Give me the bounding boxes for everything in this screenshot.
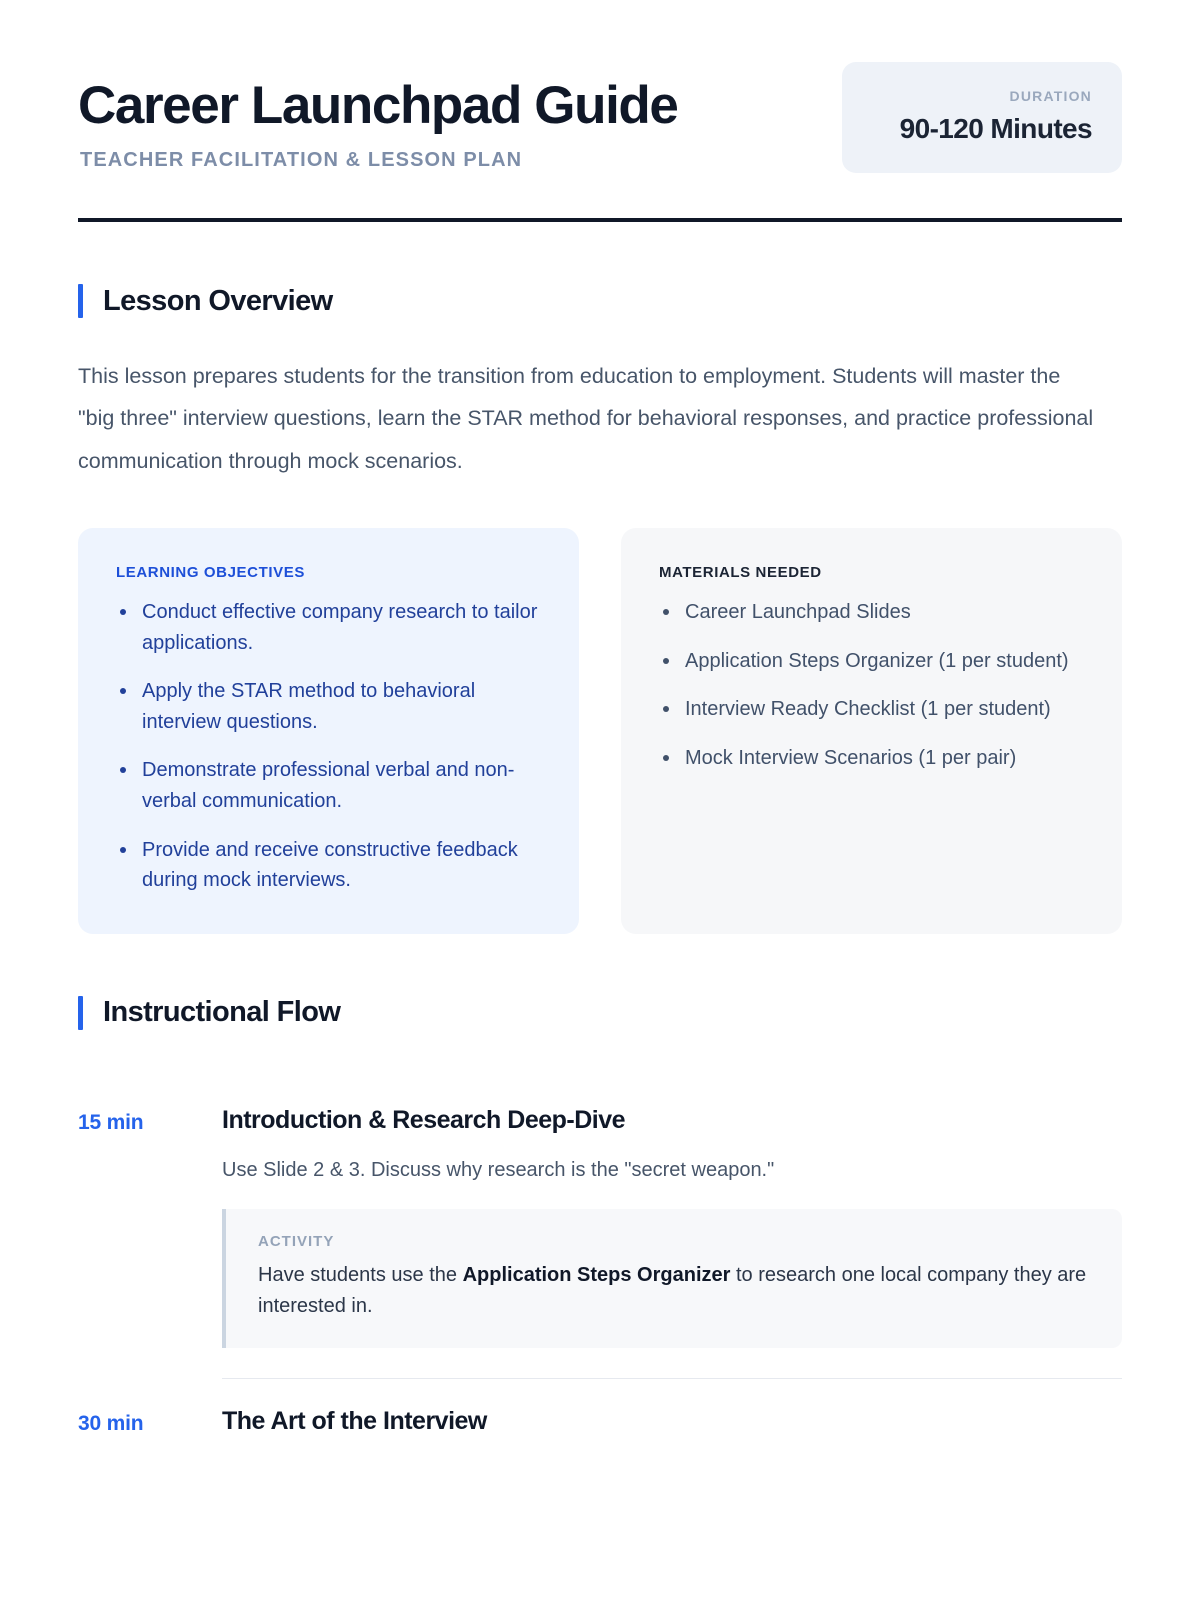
document-page: Career Launchpad Guide TEACHER FACILITAT… xyxy=(0,0,1200,1436)
activity-text-lead: Have students use the xyxy=(258,1264,463,1286)
instructional-flow-list: 15 min Introduction & Research Deep-Dive… xyxy=(78,1078,1122,1436)
section-heading-instructional-flow: Instructional Flow xyxy=(78,996,1122,1030)
flow-item-title: Introduction & Research Deep-Dive xyxy=(222,1106,1122,1135)
section-accent-bar-icon xyxy=(78,284,83,318)
learning-objectives-list: Conduct effective company research to ta… xyxy=(116,597,541,896)
learning-objectives-label: LEARNING OBJECTIVES xyxy=(116,564,541,581)
header-title-block: Career Launchpad Guide TEACHER FACILITAT… xyxy=(78,62,677,172)
list-item: Application Steps Organizer (1 per stude… xyxy=(659,646,1084,677)
section-heading-lesson-overview: Lesson Overview xyxy=(78,284,1122,318)
flow-item-time: 30 min xyxy=(78,1407,222,1436)
list-item: Career Launchpad Slides xyxy=(659,597,1084,628)
materials-needed-label: MATERIALS NEEDED xyxy=(659,564,1084,581)
list-item: Demonstrate professional verbal and non-… xyxy=(116,755,541,816)
page-title: Career Launchpad Guide xyxy=(78,78,677,133)
list-item: Interview Ready Checklist (1 per student… xyxy=(659,694,1084,725)
flow-item: 15 min Introduction & Research Deep-Dive… xyxy=(78,1078,1122,1348)
flow-item-description: Use Slide 2 & 3. Discuss why research is… xyxy=(222,1155,1122,1185)
flow-item-body: The Art of the Interview xyxy=(222,1407,1122,1436)
document-header: Career Launchpad Guide TEACHER FACILITAT… xyxy=(78,62,1122,173)
list-item: Mock Interview Scenarios (1 per pair) xyxy=(659,743,1084,774)
flow-item: 30 min The Art of the Interview xyxy=(78,1379,1122,1436)
duration-label: DURATION xyxy=(872,88,1092,104)
header-divider xyxy=(78,218,1122,222)
list-item: Provide and receive constructive feedbac… xyxy=(116,835,541,896)
flow-item-time: 15 min xyxy=(78,1106,222,1135)
flow-item-body: Introduction & Research Deep-Dive Use Sl… xyxy=(222,1106,1122,1348)
section-title-lesson-overview: Lesson Overview xyxy=(103,285,333,318)
overview-cards: LEARNING OBJECTIVES Conduct effective co… xyxy=(78,528,1122,934)
learning-objectives-card: LEARNING OBJECTIVES Conduct effective co… xyxy=(78,528,579,934)
list-item: Apply the STAR method to behavioral inte… xyxy=(116,676,541,737)
materials-needed-card: MATERIALS NEEDED Career Launchpad Slides… xyxy=(621,528,1122,934)
section-title-instructional-flow: Instructional Flow xyxy=(103,996,340,1029)
activity-text: Have students use the Application Steps … xyxy=(258,1260,1092,1322)
section-accent-bar-icon xyxy=(78,996,83,1030)
materials-needed-list: Career Launchpad Slides Application Step… xyxy=(659,597,1084,773)
list-item: Conduct effective company research to ta… xyxy=(116,597,541,658)
lesson-overview-paragraph: This lesson prepares students for the tr… xyxy=(78,355,1098,482)
activity-callout: ACTIVITY Have students use the Applicati… xyxy=(222,1209,1122,1348)
duration-value: 90-120 Minutes xyxy=(872,113,1092,145)
page-subtitle: TEACHER FACILITATION & LESSON PLAN xyxy=(80,149,677,172)
activity-text-emphasis: Application Steps Organizer xyxy=(463,1264,731,1286)
activity-label: ACTIVITY xyxy=(258,1233,1092,1250)
flow-item-title: The Art of the Interview xyxy=(222,1407,1122,1436)
duration-badge: DURATION 90-120 Minutes xyxy=(842,62,1122,173)
